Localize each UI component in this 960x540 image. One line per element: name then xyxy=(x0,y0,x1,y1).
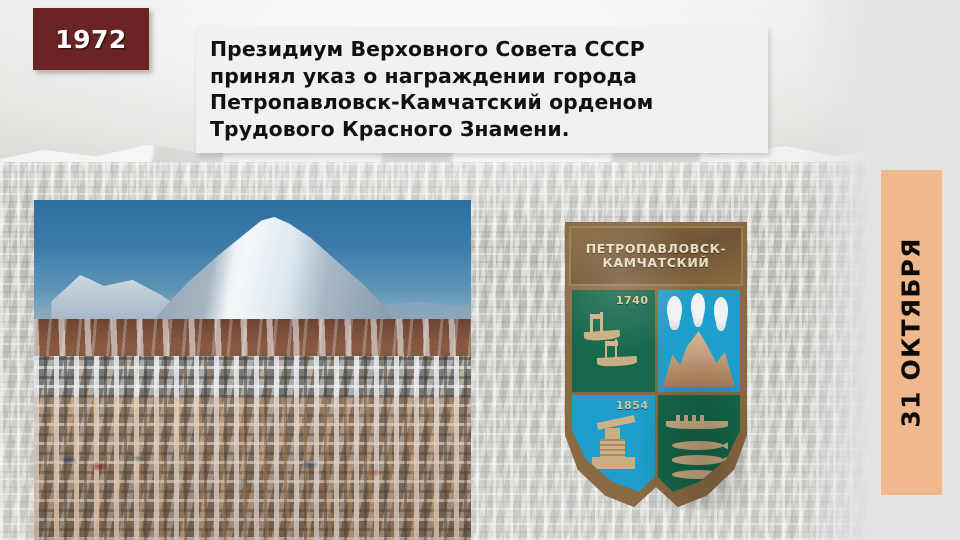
emblem-quadrant-monument: 1854 xyxy=(572,395,655,497)
year-badge: 1972 xyxy=(33,8,149,70)
fish-icon xyxy=(672,455,723,464)
headline-line-2: принял указ о награждении города xyxy=(210,63,754,90)
city-emblem-badge: ПЕТРОПАВЛОВСК- КАМЧАТСКИЙ 1740 xyxy=(565,222,747,510)
headline-line-4: Трудового Красного Знамени. xyxy=(210,116,754,143)
fishing-boat-deck-icon xyxy=(676,415,704,427)
headline-line-3: Петропавловск-Камчатский орденом xyxy=(210,89,754,116)
headline-text-card: Президиум Верховного Совета СССР принял … xyxy=(196,27,768,153)
emblem-banner-line-2: КАМЧАТСКИЙ xyxy=(603,256,710,270)
city-volcano-photo xyxy=(34,200,471,540)
steam-puff-icon xyxy=(667,296,682,322)
year-badge-label: 1972 xyxy=(55,25,127,54)
steam-puff-icon xyxy=(691,293,706,319)
fish-icon xyxy=(672,441,723,450)
date-sidebar: 31 ОКТЯБРЯ xyxy=(881,170,942,495)
emblem-date-1740: 1740 xyxy=(616,294,649,307)
photo-vignette xyxy=(34,200,471,540)
emblem-date-1854: 1854 xyxy=(616,399,649,412)
headline-line-1: Президиум Верховного Совета СССР xyxy=(210,36,754,63)
steam-puff-icon xyxy=(714,297,729,323)
emblem-quadrant-volcanoes xyxy=(658,290,741,392)
emblem-quadrants: 1740 1854 xyxy=(572,290,740,496)
monument-base-icon xyxy=(592,457,635,468)
emblem-quadrant-ships: 1740 xyxy=(572,290,655,392)
emblem-banner-line-1: ПЕТРОПАВЛОВСК- xyxy=(586,242,727,256)
emblem-quadrant-fish xyxy=(658,395,741,497)
monument-body-icon xyxy=(600,439,625,459)
background-right-fade xyxy=(802,0,872,540)
ship-sail-icon xyxy=(590,314,603,319)
emblem-banner: ПЕТРОПАВЛОВСК- КАМЧАТСКИЙ xyxy=(569,226,743,286)
volcano-trio-icon xyxy=(662,329,735,388)
ship-sail-icon xyxy=(605,341,618,346)
date-sidebar-label: 31 ОКТЯБРЯ xyxy=(897,237,926,427)
slide-root: 1972 Президиум Верховного Совета СССР пр… xyxy=(0,0,960,540)
